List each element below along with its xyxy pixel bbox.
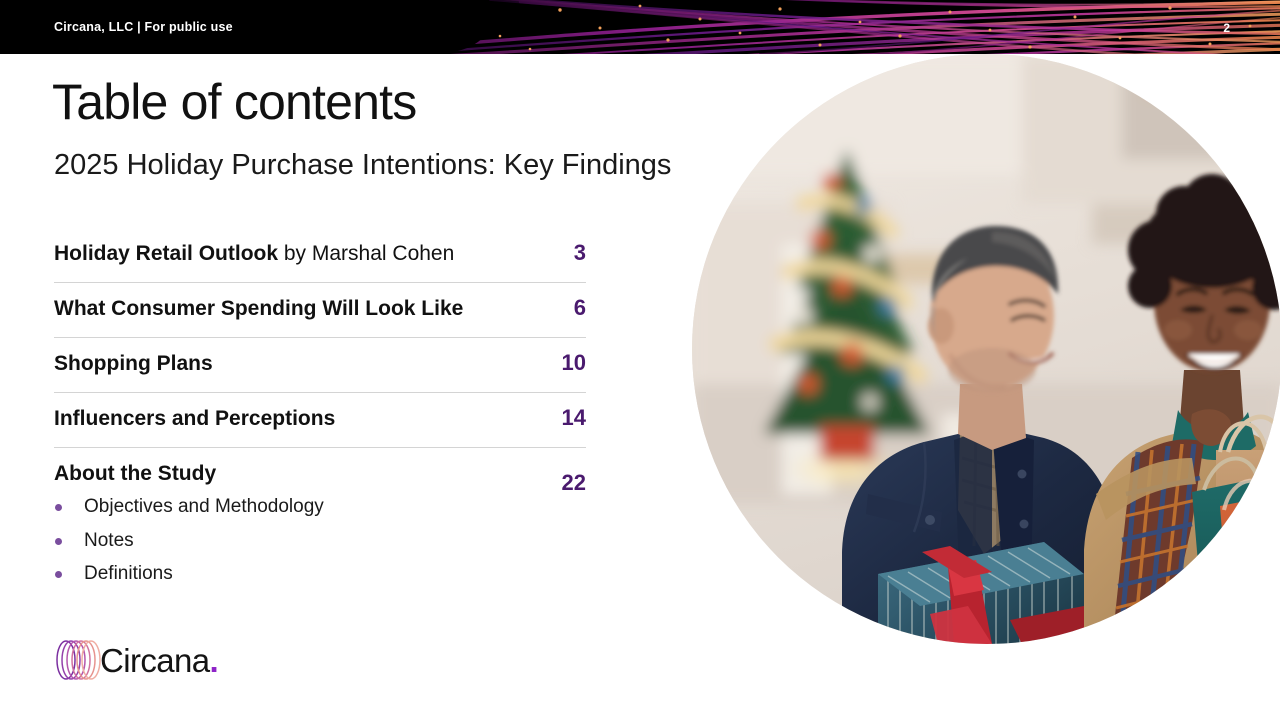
header-banner: Circana, LLC | For public use 2 (0, 0, 1280, 54)
toc-entry-label: What Consumer Spending Will Look Like (54, 297, 463, 320)
toc-entry-label-bold: Influencers and Perceptions (54, 407, 335, 430)
bullet-icon (55, 571, 62, 578)
bullet-icon (55, 504, 62, 511)
holiday-shoppers-photo (692, 54, 1280, 644)
toc-entry-label-bold: About the Study (54, 462, 216, 485)
toc-sub-label: Objectives and Methodology (84, 496, 324, 517)
page-title: Table of contents (52, 73, 416, 131)
toc-entry-page: 3 (574, 240, 586, 266)
list-item[interactable]: Definitions (54, 557, 586, 591)
toc-entry[interactable]: What Consumer Spending Will Look Like 6 (54, 283, 586, 338)
toc-entry[interactable]: About the Study 22 Objectives and Method… (54, 448, 586, 607)
toc-entry-page: 10 (562, 350, 586, 376)
page-subtitle: 2025 Holiday Purchase Intentions: Key Fi… (54, 149, 671, 182)
toc-entry-label-regular: by Marshal Cohen (278, 242, 454, 265)
toc-entry[interactable]: Influencers and Perceptions 14 (54, 393, 586, 448)
circana-logo: Circana. (52, 636, 262, 684)
toc-entry-label: Holiday Retail Outlook by Marshal Cohen (54, 242, 454, 265)
table-of-contents: Holiday Retail Outlook by Marshal Cohen … (54, 228, 586, 607)
list-item[interactable]: Objectives and Methodology (54, 490, 586, 524)
toc-entry-page: 14 (562, 405, 586, 431)
circana-wordmark: Circana. (100, 642, 218, 680)
page-number: 2 (1223, 21, 1230, 35)
toc-entry[interactable]: Holiday Retail Outlook by Marshal Cohen … (54, 228, 586, 283)
logo-period: . (210, 642, 219, 679)
holiday-shoppers-illustration (692, 54, 1280, 644)
toc-sub-label: Definitions (84, 563, 173, 584)
list-item[interactable]: Notes (54, 524, 586, 558)
toc-entry-label-bold: Shopping Plans (54, 352, 213, 375)
toc-sub-list: Objectives and Methodology Notes Definit… (54, 490, 586, 591)
toc-entry-page: 6 (574, 295, 586, 321)
toc-entry-label-bold: Holiday Retail Outlook (54, 242, 278, 265)
logo-text: Circana (100, 642, 210, 679)
toc-entry[interactable]: Shopping Plans 10 (54, 338, 586, 393)
toc-entry-label-bold: What Consumer Spending Will Look Like (54, 297, 463, 320)
toc-sub-label: Notes (84, 530, 134, 551)
circana-rings-icon (52, 638, 104, 682)
toc-entry-label: About the Study (54, 462, 216, 485)
bullet-icon (55, 538, 62, 545)
toc-entry-label: Shopping Plans (54, 352, 213, 375)
toc-entry-label: Influencers and Perceptions (54, 407, 335, 430)
confidentiality-label: Circana, LLC | For public use (54, 20, 233, 34)
